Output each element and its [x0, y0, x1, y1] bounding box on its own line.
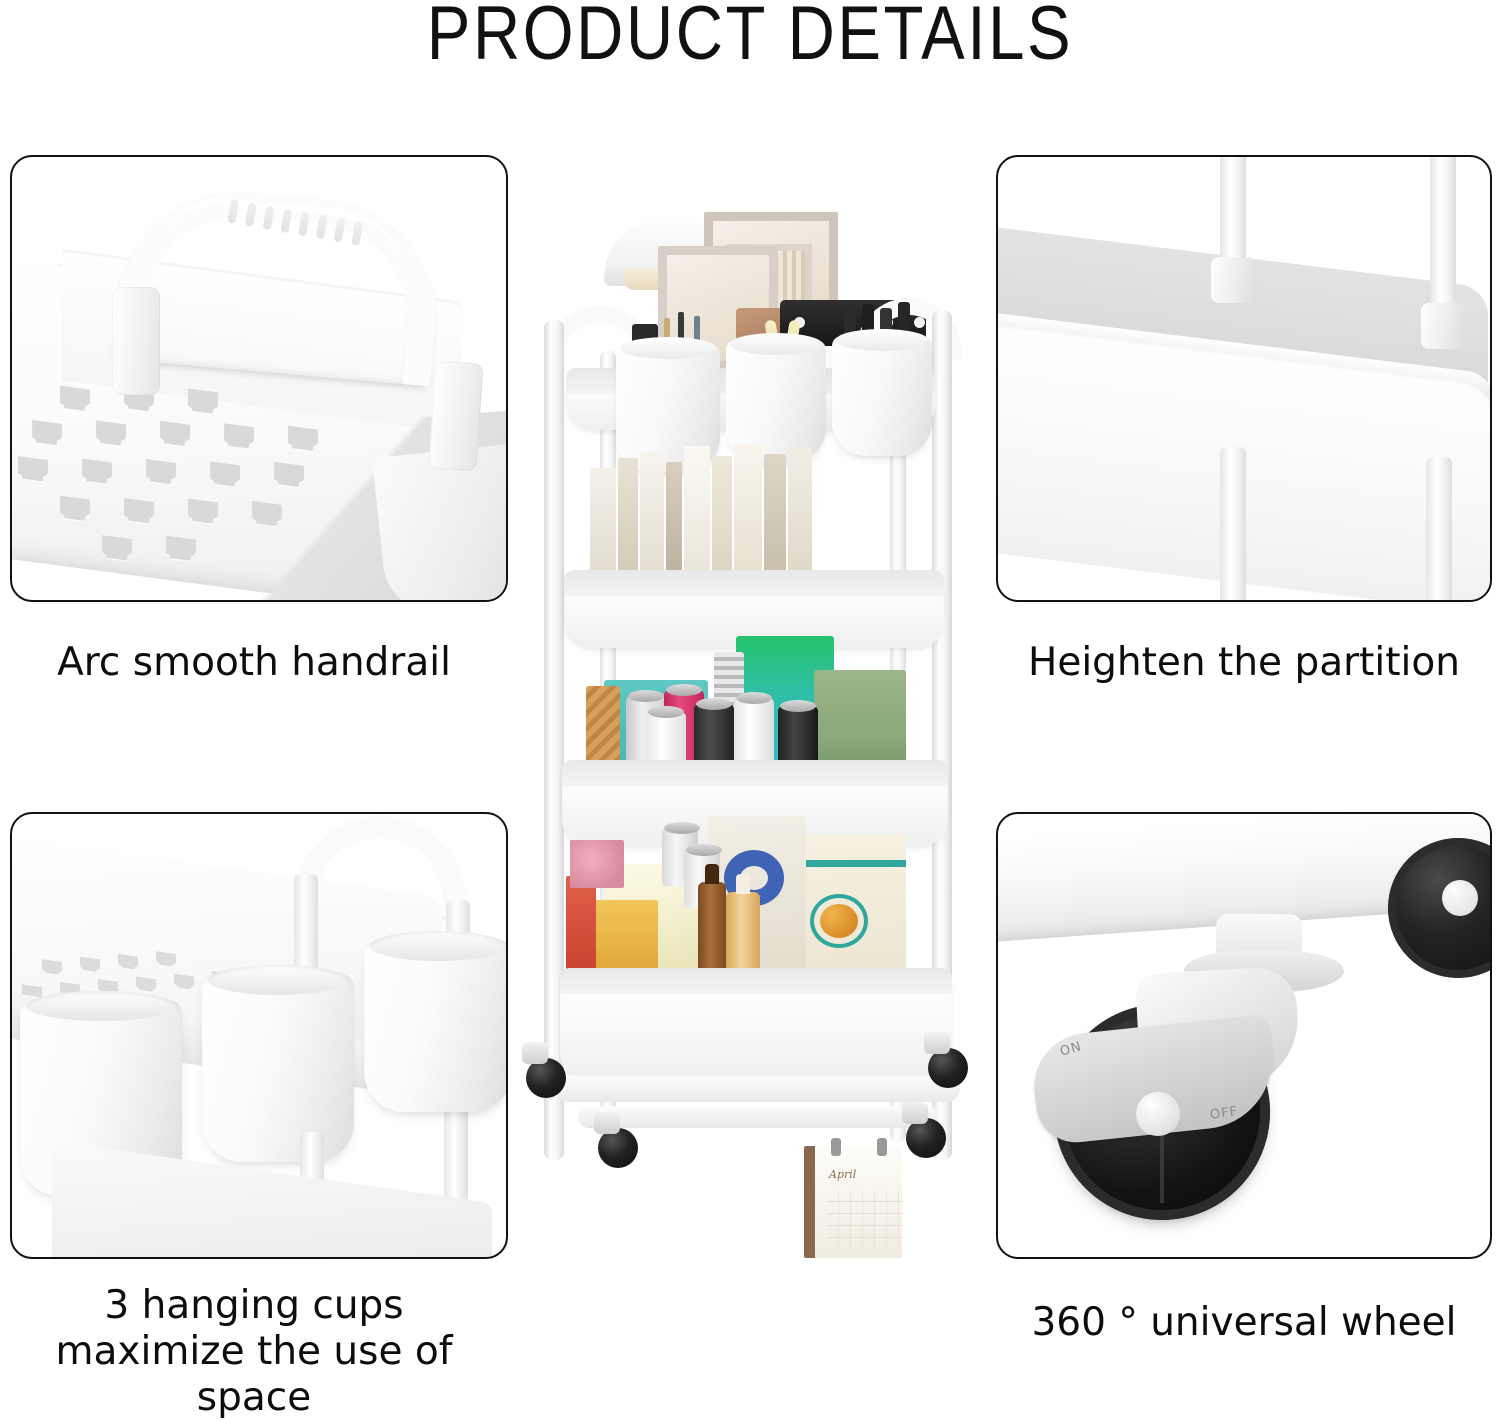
- caster-wheel-3: [928, 1048, 968, 1088]
- cart-hanging-cup-3[interactable]: [832, 336, 932, 456]
- book-9: [788, 448, 812, 570]
- candy-jar: [570, 840, 624, 888]
- product-cart: April: [508, 200, 996, 1260]
- desk-calendar: April: [804, 1146, 902, 1258]
- cart-tier-4: [560, 968, 952, 1080]
- handrail-collar-left: [112, 287, 160, 395]
- panel-arc-handrail: [10, 155, 508, 602]
- book-7: [734, 444, 762, 570]
- caster-illustration: ON OFF: [998, 814, 1490, 1257]
- calendar-grid: [827, 1190, 903, 1248]
- book-3: [640, 452, 664, 570]
- caster-wheel-1: [526, 1058, 566, 1098]
- book-2: [618, 458, 638, 570]
- book-8: [764, 454, 786, 570]
- caption-hanging-cups: 3 hanging cups maximize the use of space: [0, 1283, 514, 1421]
- book-5: [684, 446, 710, 570]
- pole-upper-right: [1430, 155, 1456, 309]
- caption-universal-wheel: 360 ° universal wheel: [996, 1300, 1492, 1346]
- panel-universal-wheel: ON OFF: [996, 812, 1492, 1259]
- book-4: [666, 462, 682, 570]
- secondary-wheel-hub: [1442, 880, 1478, 916]
- handrail-collar-right: [428, 360, 483, 471]
- caster-wheel-hub: [1136, 1092, 1180, 1136]
- partition-illustration: [998, 157, 1490, 600]
- red-packet: [566, 876, 596, 974]
- pole-lower-left: [1220, 447, 1246, 602]
- page-title: PRODUCT DETAILS: [105, 0, 1395, 72]
- caption-heighten-partition: Heighten the partition: [996, 640, 1492, 686]
- juice-bottle: [726, 892, 760, 976]
- book-1: [590, 468, 616, 570]
- hanging-cup-2[interactable]: [202, 974, 354, 1162]
- cart-base-bar-upper: [556, 1076, 960, 1102]
- cart-base-bar-lower: [578, 1106, 938, 1128]
- book-6: [712, 456, 732, 570]
- chips-contents: [594, 900, 658, 972]
- sauce-bottle: [698, 882, 726, 974]
- caption-arc-handrail: Arc smooth handrail: [0, 640, 508, 686]
- arc-handrail-illustration: [12, 157, 506, 600]
- pole-joint-left: [1211, 257, 1255, 303]
- pole-joint-right: [1421, 303, 1465, 349]
- panel-hanging-cups: [10, 812, 508, 1259]
- snack-pouch-green: [814, 670, 906, 766]
- panel-heighten-partition: [996, 155, 1492, 602]
- snack-pouch-pineapple: [586, 686, 620, 766]
- hanging-cups-illustration: [12, 814, 506, 1257]
- pole-lower-right: [1426, 457, 1452, 602]
- caster-wheel-4: [906, 1118, 946, 1158]
- calendar-month: April: [829, 1168, 856, 1181]
- hanging-cup-3[interactable]: [364, 940, 508, 1112]
- caster-wheel-2: [598, 1128, 638, 1168]
